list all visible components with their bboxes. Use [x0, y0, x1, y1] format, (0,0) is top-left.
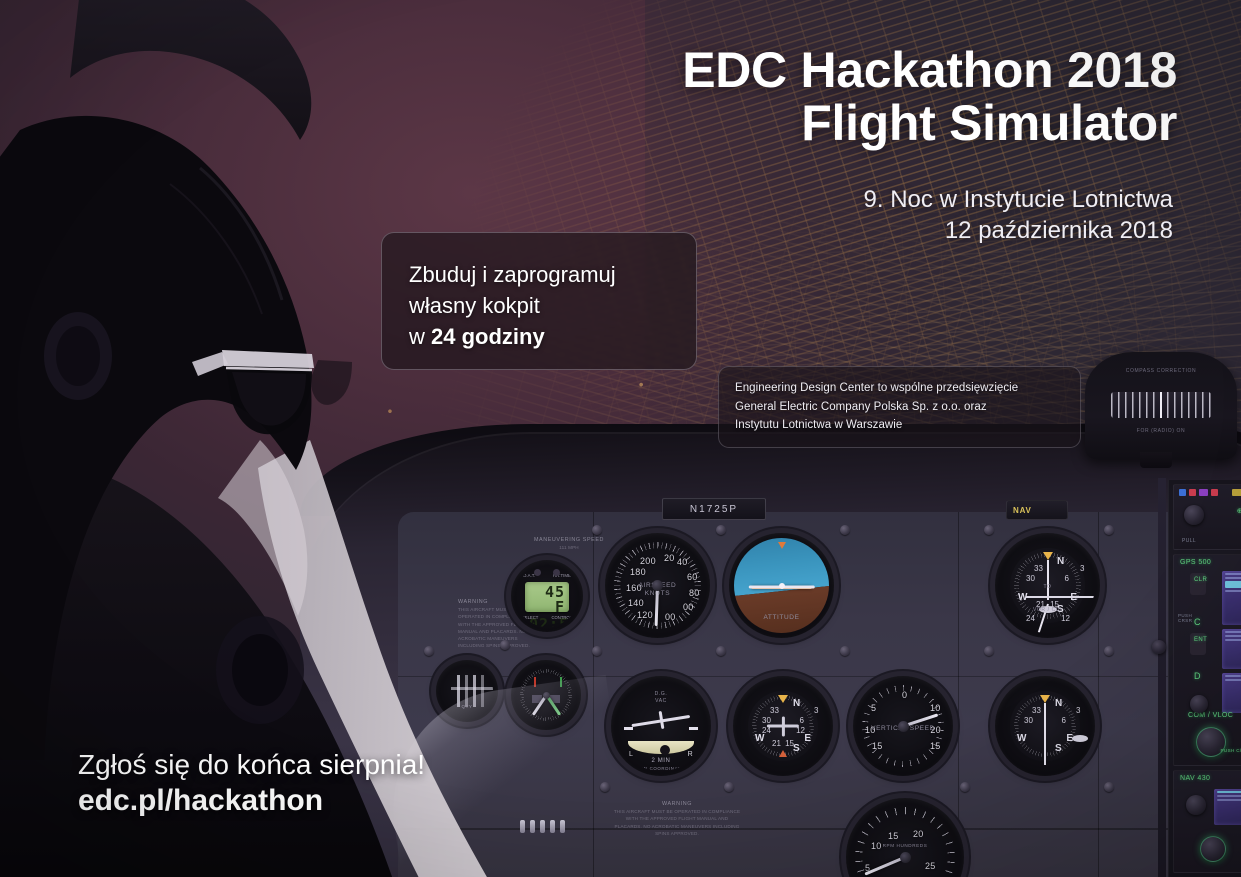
vignette-overlay	[0, 0, 1241, 877]
poster-root: 6 3 N COMPASS CORRECTION FOR (RADIO) ON …	[0, 0, 1241, 877]
